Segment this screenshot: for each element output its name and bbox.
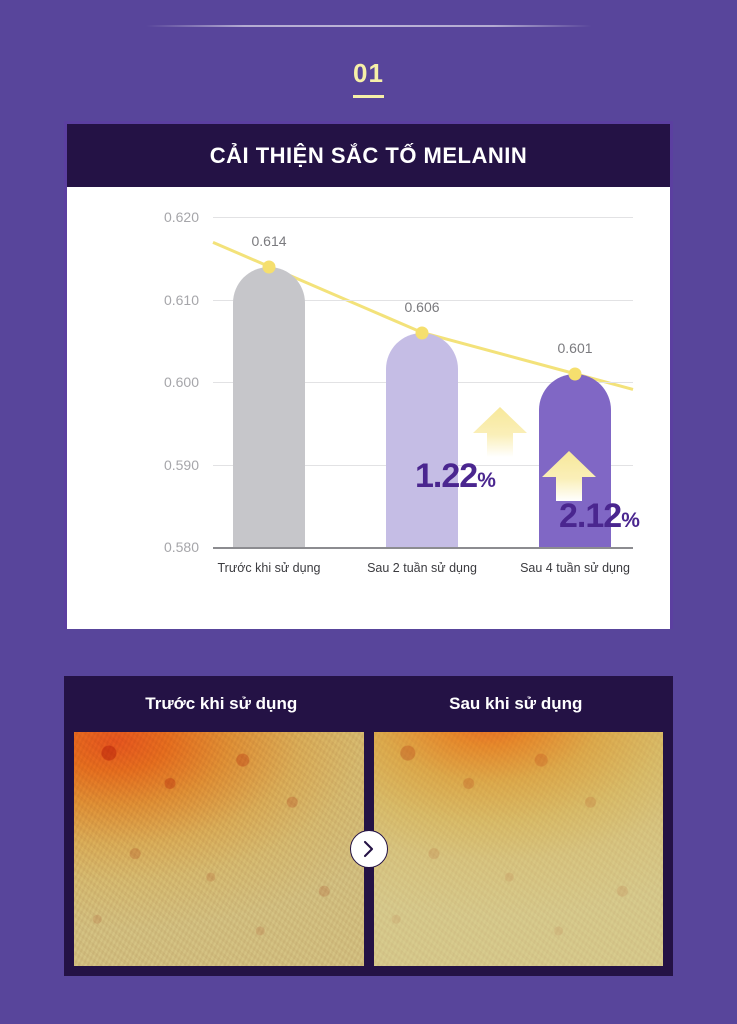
data-point-marker-2 bbox=[569, 367, 582, 380]
section-number-label: 01 bbox=[353, 58, 384, 98]
section-number: 01 bbox=[0, 58, 737, 98]
data-point-marker-0 bbox=[263, 260, 276, 273]
up-arrow-icon-2 bbox=[540, 449, 598, 503]
chart-title: CẢI THIỆN SẮC TỐ MELANIN bbox=[210, 143, 528, 169]
bar-value-label-2: 0.601 bbox=[557, 340, 592, 356]
x-axis-label-0: Trước khi sử dụng bbox=[218, 561, 321, 575]
y-axis-tick: 0.590 bbox=[164, 457, 199, 473]
before-skin-image bbox=[74, 732, 365, 966]
data-point-marker-1 bbox=[416, 326, 429, 339]
bar-value-label-0: 0.614 bbox=[251, 233, 286, 249]
bar-value-label-1: 0.606 bbox=[404, 299, 439, 315]
next-arrow-button[interactable] bbox=[350, 830, 388, 868]
y-axis-tick: 0.580 bbox=[164, 539, 199, 555]
annotation-1-22-value: 1.22 bbox=[415, 457, 477, 495]
annotation-2-12: 2.12% bbox=[559, 499, 639, 533]
x-axis-label-2: Sau 4 tuần sử dụng bbox=[520, 561, 630, 575]
y-axis-tick: 0.610 bbox=[164, 292, 199, 308]
after-skin-image bbox=[373, 732, 664, 966]
annotation-2-12-symbol: % bbox=[621, 509, 639, 532]
y-axis-tick: 0.600 bbox=[164, 374, 199, 390]
before-after-images bbox=[74, 732, 663, 966]
annotation-1-22: 1.22% bbox=[415, 459, 495, 493]
melanin-chart-card: CẢI THIỆN SẮC TỐ MELANIN 0.5800.5900.600… bbox=[64, 121, 673, 629]
annotation-1-22-symbol: % bbox=[477, 469, 495, 492]
before-label: Trước khi sử dụng bbox=[74, 676, 369, 732]
chart-body: 0.5800.5900.6000.6100.6200.614Trước khi … bbox=[67, 187, 670, 629]
before-after-headers: Trước khi sử dụng Sau khi sử dụng bbox=[74, 676, 663, 732]
up-arrow-icon-1 bbox=[471, 405, 529, 459]
gridline bbox=[213, 547, 633, 549]
after-label: Sau khi sử dụng bbox=[369, 676, 664, 732]
y-axis-tick: 0.620 bbox=[164, 209, 199, 225]
bar-0 bbox=[233, 267, 305, 548]
top-divider bbox=[146, 25, 592, 27]
bar-1 bbox=[386, 333, 458, 548]
before-after-card: Trước khi sử dụng Sau khi sử dụng bbox=[64, 676, 673, 976]
page-root: 01 CẢI THIỆN SẮC TỐ MELANIN 0.5800.5900.… bbox=[0, 0, 737, 1024]
gridline bbox=[213, 217, 633, 218]
chart-card-header: CẢI THIỆN SẮC TỐ MELANIN bbox=[67, 124, 670, 187]
chevron-right-icon bbox=[361, 840, 376, 858]
x-axis-label-1: Sau 2 tuần sử dụng bbox=[367, 561, 477, 575]
